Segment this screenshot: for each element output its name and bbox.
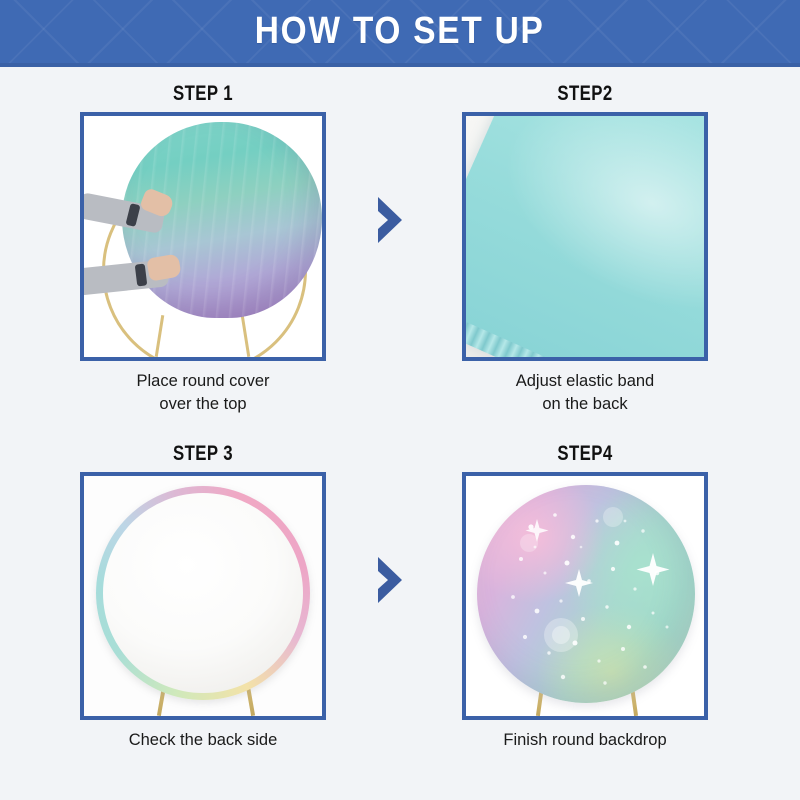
step-3-photo <box>84 476 322 716</box>
step-4-caption-line-1: Finish round backdrop <box>426 729 744 752</box>
chevron-right-top-icon <box>374 195 408 245</box>
star-sparkles-overlay <box>477 485 695 703</box>
step-card-3: STEP 3 Check the back side <box>38 440 368 752</box>
step-2-image-frame <box>462 112 708 361</box>
step-4-image-frame <box>462 472 708 720</box>
mint-fabric-panel <box>462 112 708 361</box>
step-card-4: STEP4 <box>420 440 750 752</box>
step-card-2: STEP2 Adjust elastic band on the back <box>420 80 750 417</box>
step-3-title: STEP 3 <box>71 440 335 468</box>
step-4-caption: Finish round backdrop <box>420 729 750 752</box>
finished-backdrop-disc <box>477 485 695 703</box>
step-4-photo <box>466 476 704 716</box>
step-2-caption-line-2: on the back <box>426 393 744 416</box>
page-header: HOW TO SET UP <box>0 0 800 67</box>
step-1-caption-line-1: Place round cover <box>44 370 362 393</box>
step-2-caption: Adjust elastic band on the back <box>420 370 750 417</box>
step-1-image-frame <box>80 112 326 361</box>
step-1-title: STEP 1 <box>71 80 335 108</box>
page-title: HOW TO SET UP <box>255 10 545 53</box>
pastel-rim-edge <box>96 486 310 700</box>
fabric-sheen <box>462 112 708 361</box>
step-1-caption: Place round cover over the top <box>38 370 368 417</box>
step-3-caption-line-1: Check the back side <box>44 729 362 752</box>
white-back-face <box>103 493 303 693</box>
step-2-photo <box>466 116 704 357</box>
step-4-title: STEP4 <box>453 440 717 468</box>
step-3-image-frame <box>80 472 326 720</box>
step-1-caption-line-2: over the top <box>44 393 362 416</box>
step-2-title: STEP2 <box>453 80 717 108</box>
step-2-caption-line-1: Adjust elastic band <box>426 370 744 393</box>
step-3-caption: Check the back side <box>38 729 368 752</box>
step-1-photo <box>84 116 322 357</box>
steps-grid: STEP 1 Place round cover over the top <box>0 67 800 800</box>
step-card-1: STEP 1 Place round cover over the top <box>38 80 368 417</box>
chevron-right-bottom-icon <box>374 555 408 605</box>
